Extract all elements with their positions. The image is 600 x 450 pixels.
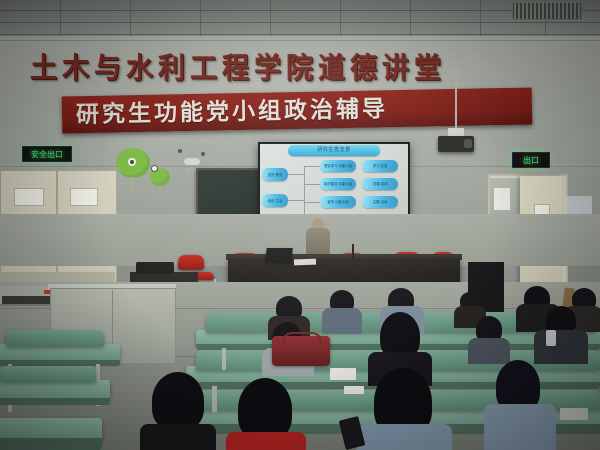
door-window-right (70, 188, 98, 206)
slide-node-left-1: 党员 教育 (262, 168, 288, 181)
exit-sign-left-label: 安全出口 (31, 149, 63, 160)
backpack-strap (282, 332, 322, 344)
lecture-hall-photo: 土木与水利工程学院道德讲堂 研究生功能党小组政治辅导 安全出口 出口 快乐成长 … (0, 0, 600, 450)
papers (294, 259, 316, 266)
door-window-left (14, 188, 44, 206)
hall-title-text: 土木与水利工程学院道德讲堂 (30, 47, 550, 89)
slide-title-box: 研究生党支部 (288, 145, 380, 156)
desk-row-front-left-2 (0, 380, 110, 400)
bench-back-left-2 (0, 366, 96, 382)
microphone-icon (352, 244, 354, 258)
projector-pole (455, 40, 457, 138)
wall-decal-cloud-icon (184, 158, 200, 165)
wall-decal-bird-3-icon (201, 152, 205, 156)
notebook-2 (344, 386, 364, 394)
av-equipment (136, 262, 174, 274)
desk-edge-3 (0, 438, 102, 450)
slide-node-right-3: 主题 活动 (362, 196, 398, 208)
water-bottle (546, 330, 556, 346)
exit-sign-right-icon: 出口 (512, 152, 550, 168)
wall-decal-caption-2: 快乐成长 (118, 196, 158, 201)
slide-node-center-2: 组织建设 功能小组 (320, 178, 356, 190)
notebook-1 (330, 368, 356, 380)
door-base-trim (0, 272, 115, 282)
exit-sign-left-icon: 安全出口 (22, 146, 72, 162)
slide-title-text: 研究生党支部 (288, 145, 380, 156)
slide-node-right-2: 党课 培训 (362, 178, 398, 190)
corridor-window (494, 188, 510, 210)
desk-leg-r2 (212, 386, 217, 412)
wall-decal-bird-2-icon (178, 149, 182, 153)
laptop-icon (265, 248, 292, 262)
counter-slot (2, 296, 54, 304)
air-vent-grille-icon (512, 2, 582, 20)
slide-node-center-3: 宣传 功能小组 (320, 196, 356, 208)
desk-leg-r1 (222, 348, 226, 370)
projector-lens-icon (464, 139, 472, 148)
bench-back-left-1 (6, 330, 104, 346)
wall-decal-bird-icon (152, 166, 157, 171)
red-chair-1 (178, 255, 204, 270)
paper-on-desk (560, 408, 588, 420)
slide-node-center-1: 理论学习 功能小组 (320, 160, 356, 172)
slide-node-right-1: 学习 交流 (362, 160, 398, 172)
slide-node-left-2: 组织 生活 (262, 194, 288, 207)
event-banner-text: 研究生功能党小组政治辅导 (76, 90, 527, 132)
desk-edge-2 (0, 398, 110, 405)
exit-sign-right-label: 出口 (523, 155, 539, 166)
